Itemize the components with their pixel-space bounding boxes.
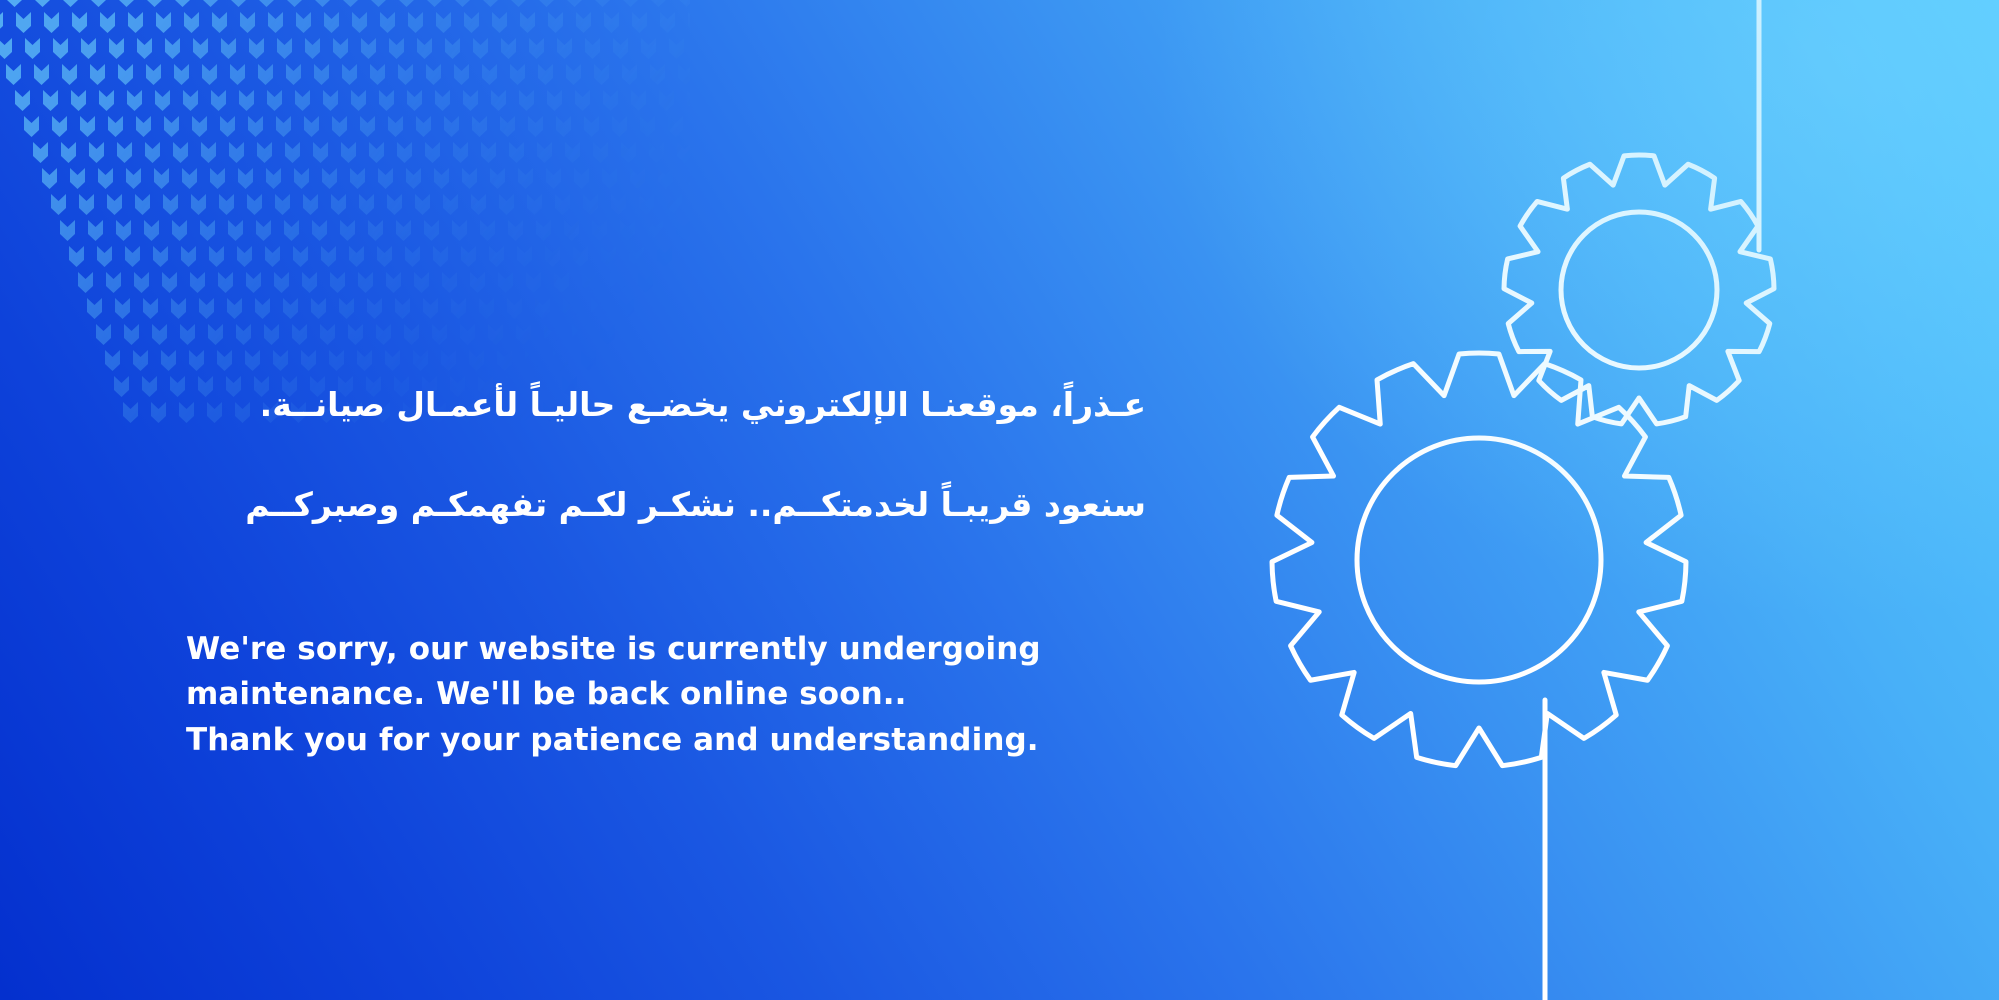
english-line-1: We're sorry, our website is currently un… [186,627,1186,673]
arabic-line-2: سنعود قريبـاً لخدمتكــم.. نشكـر لكـم تفه… [186,480,1146,530]
english-message: We're sorry, our website is currently un… [186,627,1186,764]
message-block: عـذراً، موقعنـا الإلكتروني يخضـع حاليـاً… [186,330,1186,763]
gear-large-inner-circle [1357,438,1601,682]
gear-small-inner-circle [1561,212,1717,368]
english-line-3: Thank you for your patience and understa… [186,718,1186,764]
arabic-message: عـذراً، موقعنـا الإلكتروني يخضـع حاليـاً… [186,330,1146,581]
gear-small-outer [1504,155,1774,424]
gear-large-outer [1272,353,1686,766]
arabic-line-1: عـذراً، موقعنـا الإلكتروني يخضـع حاليـاً… [186,380,1146,430]
maintenance-page: عـذراً، موقعنـا الإلكتروني يخضـع حاليـاً… [0,0,1999,1000]
english-line-2: maintenance. We'll be back online soon.. [186,672,1186,718]
